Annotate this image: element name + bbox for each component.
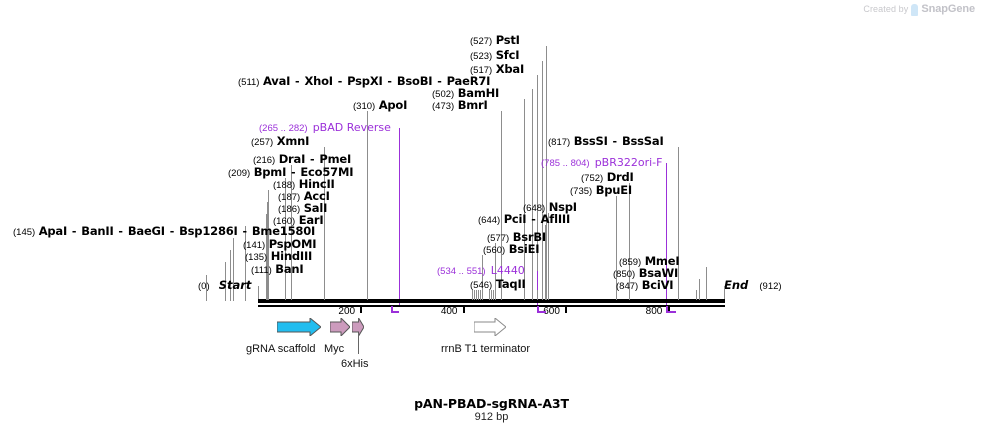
end-marker: End (912) [724,274,782,293]
enzyme-position: (257) [251,137,273,148]
created-by-label: Created by [863,4,908,14]
restriction-site-tick [495,290,496,300]
restriction-site-tick [501,290,502,300]
enzyme-position: (145) [13,227,35,238]
primer-extent-end-tick [391,306,393,312]
restriction-site-tick [678,290,679,300]
enzyme-name-bmri[interactable]: BmrI [458,98,488,112]
restriction-site-tick [482,290,483,300]
enzyme-leader-line [537,75,538,301]
enzyme-name-bani[interactable]: BanI [275,262,303,276]
feature-label-grna-scaffold[interactable]: gRNA scaffold [246,343,316,355]
enzyme-position: (187) [278,192,300,203]
enzyme-separator: - [526,213,540,226]
primer-row-pbr322ori-f[interactable]: (785 .. 804) pBR322ori-F [541,151,662,170]
primer-extent-end-tick [537,306,539,312]
enzyme-position: (850) [613,269,635,280]
restriction-site-tick [537,290,538,300]
enzyme-name-pcii[interactable]: PciI [504,212,527,226]
enzyme-name-banii[interactable]: BanII [81,224,113,238]
enzyme-position: (644) [478,215,500,226]
enzyme-name-sfci[interactable]: SfcI [496,48,520,62]
enzyme-row-bsiei[interactable]: (560) BsiEI [483,244,539,256]
ruler-label-200: 200 [338,306,355,317]
enzyme-separator: - [238,225,252,238]
enzyme-position: (735) [570,186,592,197]
restriction-site-tick [629,290,630,300]
restriction-site-tick [489,290,490,300]
enzyme-position: (188) [273,180,295,191]
enzyme-row-bpuei[interactable]: (735) BpuEI [570,185,632,197]
enzyme-row-apoi[interactable]: (310) ApoI [353,100,407,112]
restriction-site-tick [524,290,525,300]
primer-range: (785 .. 804) [541,158,590,169]
plasmid-name: pAN-PBAD-sgRNA-A3T [0,396,983,411]
primer-name[interactable]: pBAD Reverse [313,121,391,134]
enzyme-name-bpuei[interactable]: BpuEI [596,183,632,197]
restriction-site-tick [480,290,481,300]
enzyme-leader-line [532,89,533,301]
feature-label-6xhis[interactable]: 6xHis [341,358,369,370]
enzyme-position: (847) [616,281,638,292]
enzyme-position: (310) [353,101,375,112]
feature-grna-scaffold[interactable] [277,318,321,340]
restriction-site-tick [230,290,231,300]
enzyme-leader-line [678,147,679,301]
6xhis-stem [358,336,359,354]
enzyme-name-bsobi[interactable]: BsoBI [397,74,433,88]
enzyme-position: (502) [432,89,454,100]
enzyme-position: (209) [228,168,250,179]
enzyme-name-bcivi[interactable]: BciVI [642,278,674,292]
enzyme-position: (527) [470,36,492,47]
primer-extent-end-tick [666,306,668,312]
enzyme-position: (141) [243,240,265,251]
enzyme-name-bme1580i[interactable]: Bme1580I [252,224,315,238]
enzyme-name-apai[interactable]: ApaI [39,224,67,238]
ruler-label-800: 800 [646,306,663,317]
enzyme-row-bsssi[interactable]: (817) BssSI - BssSaI [548,136,664,148]
restriction-site-tick [324,290,325,300]
restriction-site-tick [478,290,479,300]
enzyme-position: (523) [470,51,492,62]
enzyme-name-taqii[interactable]: TaqII [496,277,526,291]
restriction-site-tick [706,290,707,300]
enzyme-row-bmri[interactable]: (473) BmrI [432,100,488,112]
enzyme-separator: - [114,225,128,238]
restriction-site-tick [696,290,697,300]
enzyme-name-avai[interactable]: AvaI [263,74,290,88]
restriction-site-tick [206,290,207,300]
enzyme-name-baegi[interactable]: BaeGI [128,224,165,238]
restriction-site-tick [616,290,617,300]
restriction-site-tick [491,290,492,300]
primer-leader-line [399,128,400,306]
enzyme-name-afliii[interactable]: AflIII [541,212,570,226]
enzyme-separator: - [608,135,622,148]
enzyme-separator: - [290,75,304,88]
restriction-site-tick [472,290,473,300]
snapgene-map-canvas: Created by SnapGene (527) PstI(523) SfcI… [0,0,983,432]
primer-range: (534 .. 551) [437,266,486,277]
enzyme-separator: - [432,75,446,88]
enzyme-leader-line [367,111,368,301]
enzyme-name-hindiii[interactable]: HindIII [271,249,312,263]
enzyme-name-bsssi[interactable]: BssSI [574,134,608,148]
enzyme-name-pspxi[interactable]: PspXI [347,74,382,88]
feature-label-myc[interactable]: Myc [324,343,344,355]
restriction-site-tick [476,290,477,300]
enzyme-row-xmni[interactable]: (257) XmnI [251,136,309,148]
enzyme-separator: - [383,75,397,88]
enzyme-name-apoi[interactable]: ApoI [379,98,408,112]
primer-name[interactable]: L4440 [491,264,525,277]
snapgene-credit: Created by SnapGene [863,3,975,15]
snapgene-brand-label: SnapGene [921,3,975,15]
enzyme-row-sfci[interactable]: (523) SfcI [470,50,519,62]
restriction-site-tick [699,290,700,300]
primer-row-l4440[interactable]: (534 .. 551) L4440 [437,259,525,278]
enzyme-leader-line [546,46,547,301]
enzyme-position: (111) [251,265,272,276]
enzyme-position: (560) [483,245,505,256]
enzyme-name-bpmi[interactable]: BpmI [254,165,286,179]
enzyme-row-bani[interactable]: (111) BanI [251,264,303,276]
enzyme-name-bsp1286i[interactable]: Bsp1286I [179,224,238,238]
enzyme-name-xhoi[interactable]: XhoI [304,74,332,88]
enzyme-position: (817) [548,137,570,148]
primer-row-pbad-reverse[interactable]: (265 .. 282) pBAD Reverse [259,116,391,135]
restriction-site-tick [548,290,549,300]
enzyme-name-drdi[interactable]: DrdI [607,170,634,184]
restriction-site-tick [245,290,246,300]
enzyme-separator: - [165,225,179,238]
snapgene-logo-icon [911,4,918,16]
enzyme-name-bsiei[interactable]: BsiEI [509,242,540,256]
enzyme-name-xmni[interactable]: XmnI [277,134,310,148]
enzyme-name-drai[interactable]: DraI [279,152,305,166]
enzyme-leader-line [542,61,543,301]
feature-myc[interactable] [330,318,350,340]
primer-range: (265 .. 282) [259,123,308,134]
restriction-site-tick [291,290,292,300]
feature-rrnb-t1-terminator[interactable] [474,318,506,340]
restriction-site-tick [268,290,269,300]
ruler-tick-200 [360,305,362,313]
restriction-site-tick [233,290,234,300]
feature-label-rrnb-t1-terminator[interactable]: rrnB T1 terminator [441,343,530,355]
end-position: (912) [759,281,781,292]
end-label: End [724,278,748,292]
ruler-tick-600 [565,305,567,313]
restriction-site-tick [225,290,226,300]
restriction-site-tick [285,290,286,300]
enzyme-position: (511) [238,77,259,88]
primer-name[interactable]: pBR322ori-F [595,156,663,169]
enzyme-row-bcivi[interactable]: (847) BciVI [616,280,673,292]
plasmid-size: 912 bp [0,411,983,423]
enzyme-position: (473) [432,101,454,112]
start-label: Start [219,278,252,292]
ruler-label-400: 400 [441,306,458,317]
enzyme-name-bsssai[interactable]: BssSaI [622,134,664,148]
restriction-site-tick [532,290,533,300]
ruler-tick-400 [463,305,465,313]
enzyme-row-pcii[interactable]: (644) PciI - AflIII [478,214,570,226]
enzyme-leader-line [548,213,549,301]
enzyme-name-psti[interactable]: PstI [496,33,520,47]
restriction-site-tick [546,290,547,300]
enzyme-name-pmei[interactable]: PmeI [319,152,351,166]
enzyme-name-xbai[interactable]: XbaI [496,62,524,76]
enzyme-separator: - [67,225,81,238]
enzyme-row-psti[interactable]: (527) PstI [470,35,520,47]
restriction-site-tick [493,290,494,300]
restriction-site-tick [474,290,475,300]
enzyme-row-avai[interactable]: (511) AvaI - XhoI - PspXI - BsoBI - PaeR… [238,76,490,88]
restriction-site-tick [367,290,368,300]
enzyme-position: (135) [245,252,267,263]
enzyme-separator: - [333,75,347,88]
restriction-site-tick [542,290,543,300]
start-position: (0) [198,281,210,292]
